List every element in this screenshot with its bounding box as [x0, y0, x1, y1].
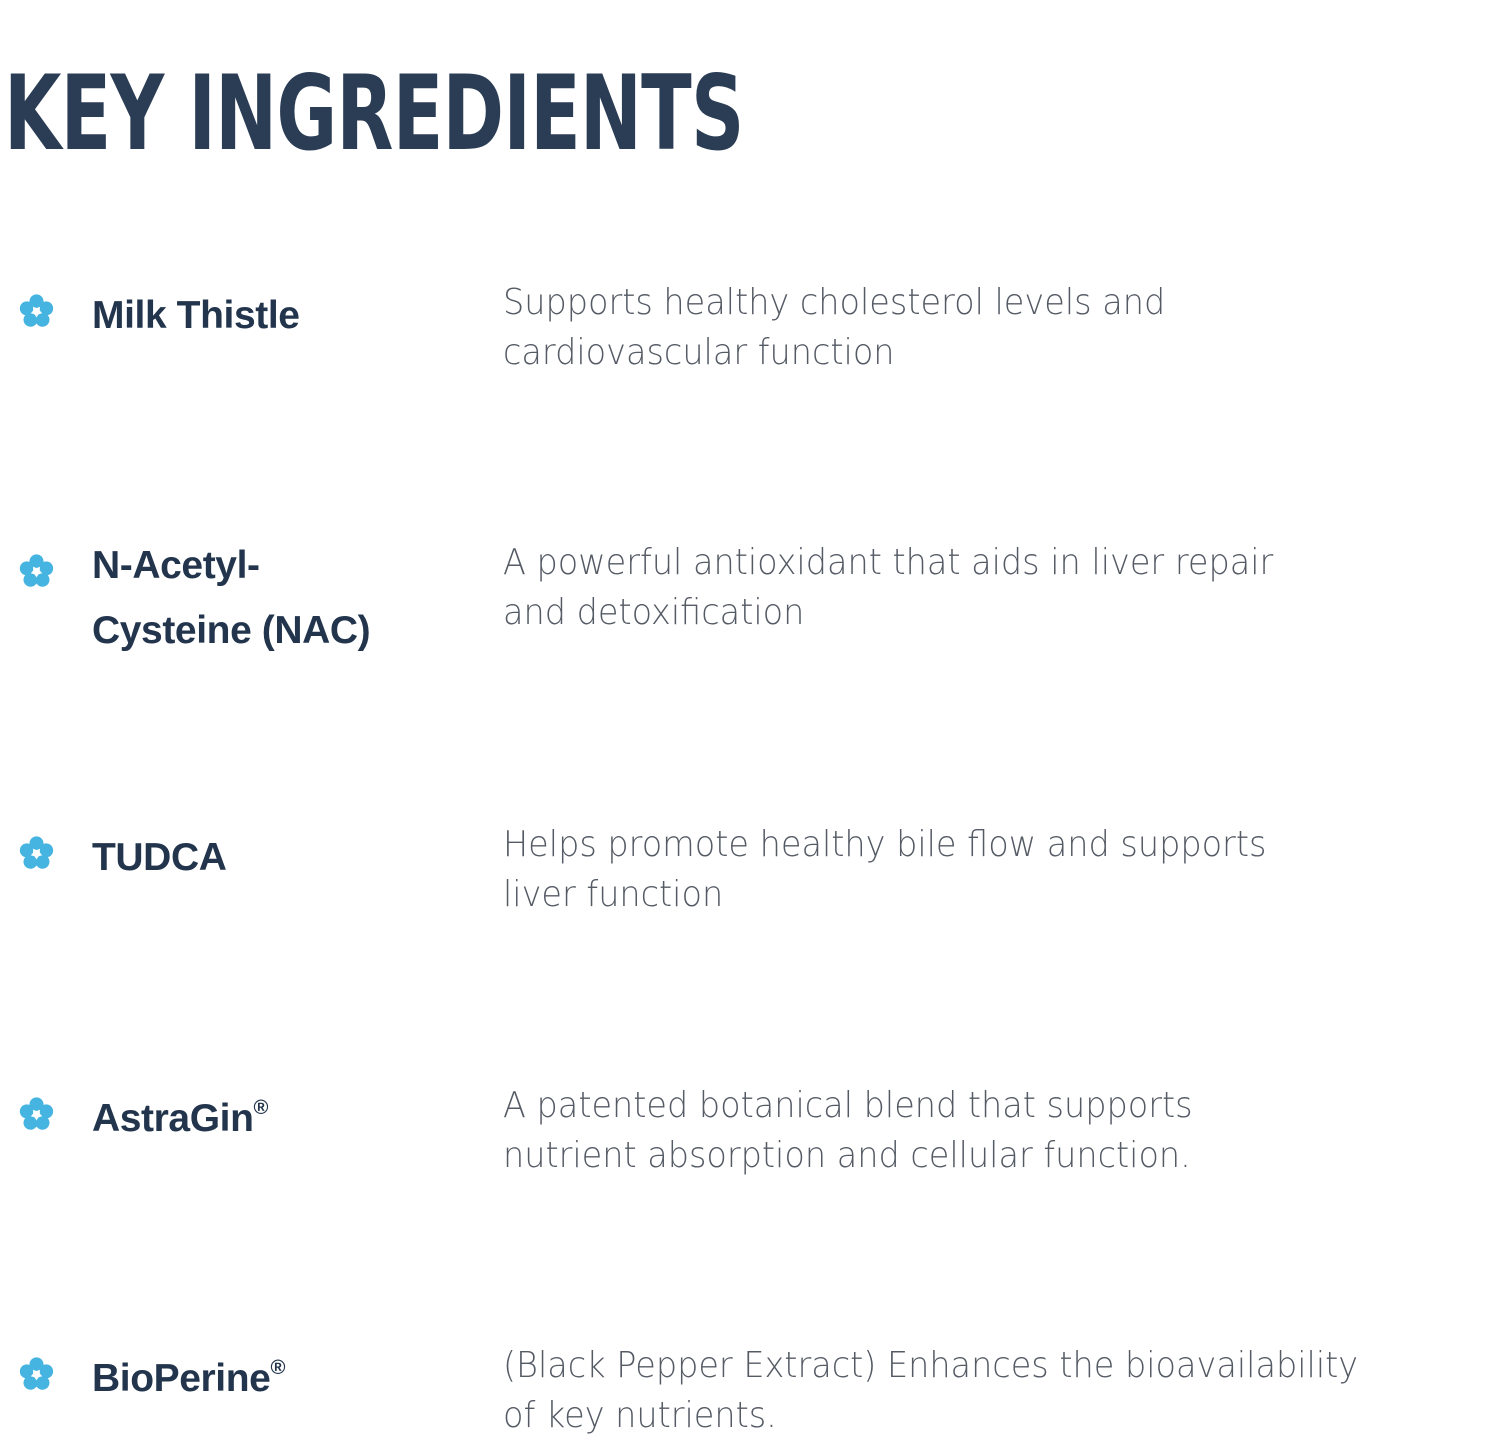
ingredient-description: Helps promote healthy bile flow and supp…: [503, 820, 1421, 920]
ingredient-name-cell: TUDCA: [92, 820, 503, 885]
ingredient-name-cell: AstraGin®: [92, 1081, 503, 1146]
ingredient-description: A powerful antioxidant that aids in live…: [503, 538, 1421, 638]
petal-ring-icon: [17, 552, 56, 591]
ingredient-name-text: AstraGin: [92, 1097, 254, 1140]
ingredient-description: (Black Pepper Extract) Enhances the bioa…: [503, 1341, 1421, 1441]
ingredient-name-cell: Milk Thistle: [92, 278, 503, 343]
ingredient-row: TUDCA Helps promote healthy bile flow an…: [0, 820, 1500, 920]
ingredient-icon-cell: [0, 1081, 92, 1134]
ingredient-icon-cell: [0, 278, 92, 331]
page-title: KEY INGREDIENTS: [4, 59, 744, 169]
ingredient-description-cell: A powerful antioxidant that aids in live…: [503, 538, 1500, 638]
ingredient-row: N-Acetyl- Cysteine (NAC) A powerful anti…: [0, 538, 1500, 658]
ingredient-description: Supports healthy cholesterol levels and …: [503, 278, 1421, 378]
ingredient-icon-cell: [0, 820, 92, 873]
ingredient-name: TUDCA: [92, 820, 493, 885]
ingredient-icon-cell: [0, 538, 92, 591]
ingredient-icon-cell: [0, 1341, 92, 1394]
ingredient-name-text: N-Acetyl- Cysteine (NAC): [92, 544, 370, 652]
petal-ring-icon: [17, 292, 56, 331]
ingredient-row: BioPerine® (Black Pepper Extract) Enhanc…: [0, 1341, 1500, 1441]
ingredient-name-text: Milk Thistle: [92, 294, 300, 337]
registered-trademark-symbol: ®: [254, 1097, 269, 1119]
ingredient-description: A patented botanical blend that supports…: [503, 1081, 1421, 1181]
ingredient-name: N-Acetyl- Cysteine (NAC): [92, 538, 493, 658]
petal-ring-icon: [17, 1355, 56, 1394]
ingredient-row: Milk Thistle Supports healthy cholestero…: [0, 278, 1500, 378]
ingredient-name: AstraGin®: [92, 1081, 493, 1146]
ingredient-row: AstraGin® A patented botanical blend tha…: [0, 1081, 1500, 1181]
ingredient-name: Milk Thistle: [92, 278, 493, 343]
ingredient-name-cell: BioPerine®: [92, 1341, 503, 1406]
petal-ring-icon: [17, 1095, 56, 1134]
ingredient-name-text: BioPerine: [92, 1357, 270, 1400]
ingredient-description-cell: (Black Pepper Extract) Enhances the bioa…: [503, 1341, 1500, 1441]
petal-ring-icon: [17, 834, 56, 873]
ingredient-name: BioPerine®: [92, 1341, 493, 1406]
ingredient-name-cell: N-Acetyl- Cysteine (NAC): [92, 538, 503, 658]
ingredient-description-cell: Supports healthy cholesterol levels and …: [503, 278, 1500, 378]
registered-trademark-symbol: ®: [270, 1357, 285, 1379]
ingredient-description-cell: Helps promote healthy bile flow and supp…: [503, 820, 1500, 920]
ingredient-description-cell: A patented botanical blend that supports…: [503, 1081, 1500, 1181]
ingredient-name-text: TUDCA: [92, 836, 226, 879]
key-ingredients-page: KEY INGREDIENTS Milk Thistle: [0, 0, 1500, 1453]
